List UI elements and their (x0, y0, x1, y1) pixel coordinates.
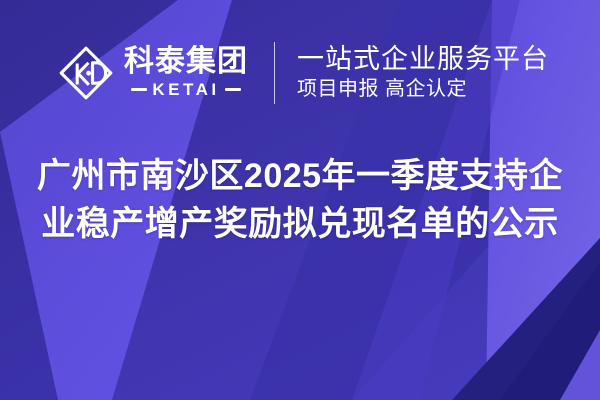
tagline-secondary: 项目申报 高企认定 (297, 78, 549, 101)
tagline-primary: 一站式企业服务平台 (297, 44, 549, 74)
brand-name-cn: 科泰集团 (124, 47, 248, 77)
banner-header: 科泰集团 KETAI 一站式企业服务平台 项目申报 高企认定 (0, 0, 600, 145)
brand-name-en-row: KETAI (124, 81, 248, 98)
page-title: 广州市南沙区2025年一季度支持企业稳产增产奖励拟兑现名单的公示 (28, 152, 572, 249)
brand-lockup: 科泰集团 KETAI (57, 44, 248, 102)
dash-left-icon (131, 88, 147, 91)
dash-right-icon (225, 88, 241, 91)
header-divider (274, 42, 275, 104)
brand-name-en: KETAI (152, 81, 219, 98)
ketai-kt-monogram-logo-icon (57, 44, 115, 102)
promo-banner: 科泰集团 KETAI 一站式企业服务平台 项目申报 高企认定 广州市南沙区202… (0, 0, 600, 400)
brand-text: 科泰集团 KETAI (124, 47, 248, 98)
title-block: 广州市南沙区2025年一季度支持企业稳产增产奖励拟兑现名单的公示 (0, 152, 600, 249)
tagline-block: 一站式企业服务平台 项目申报 高企认定 (297, 44, 549, 100)
